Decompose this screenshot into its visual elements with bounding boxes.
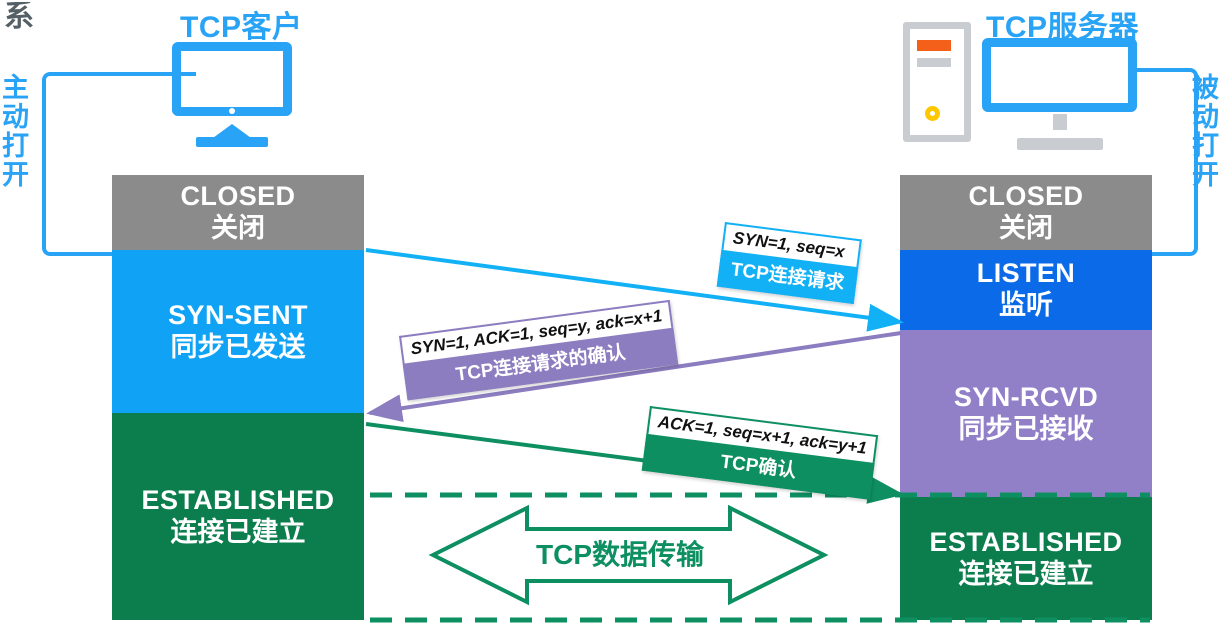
tcp-handshake-diagram: 系 主 动 打 开 被 动 打 开 TCP客户 TCP服务器 C	[0, 0, 1222, 640]
left-side-label-char-2: 打	[2, 132, 29, 161]
monitor-neck	[1053, 114, 1067, 130]
server-state-syn-rcvd: SYN-RCVD 同步已接收	[900, 330, 1152, 497]
state-cn: 连接已建立	[959, 558, 1094, 590]
left-side-label: 主 动 打 开	[2, 74, 29, 191]
left-side-label-char-1: 动	[2, 103, 29, 132]
state-cn: 监听	[999, 289, 1053, 321]
tower-power-led-icon	[925, 106, 940, 121]
tower-gray-bar	[917, 58, 951, 67]
client-title: TCP客户	[180, 2, 303, 46]
message-label-syn: SYN=1, seq=x TCP连接请求	[717, 222, 862, 304]
state-en: CLOSED	[181, 181, 296, 211]
client-state-established: ESTABLISHED 连接已建立	[112, 413, 364, 620]
state-cn: 连接已建立	[171, 516, 306, 548]
state-cn: 同步已发送	[171, 331, 306, 363]
server-tower-icon	[903, 22, 971, 142]
client-state-closed: CLOSED 关闭	[112, 175, 364, 250]
state-en: SYN-SENT	[168, 300, 308, 330]
state-cn: 关闭	[999, 212, 1053, 244]
message-label-syn-ack: SYN=1, ACK=1, seq=y, ack=x+1 TCP连接请求的确认	[399, 300, 679, 401]
monitor-base	[1017, 138, 1103, 150]
state-en: ESTABLISHED	[930, 527, 1123, 557]
monitor-screen	[982, 38, 1137, 112]
data-transfer-label: TCP数据传输	[536, 533, 704, 573]
server-state-closed: CLOSED 关闭	[900, 175, 1152, 250]
state-cn: 关闭	[211, 212, 265, 244]
state-cn: 同步已接收	[959, 413, 1094, 445]
monitor-base	[196, 137, 268, 147]
corner-glyph: 系	[4, 2, 38, 46]
server-state-listen: LISTEN 监听	[900, 250, 1152, 330]
left-side-label-char-3: 开	[2, 161, 29, 190]
left-side-label-char-0: 主	[2, 74, 29, 103]
server-monitor-icon	[982, 38, 1137, 150]
message-label-ack: ACK=1, seq=x+1, ack=y+1 TCP确认	[642, 406, 879, 500]
state-en: ESTABLISHED	[142, 485, 335, 515]
state-en: CLOSED	[969, 181, 1084, 211]
tower-orange-bar	[917, 40, 951, 51]
monitor-indicator-dot	[229, 108, 235, 114]
state-en: LISTEN	[977, 258, 1075, 288]
state-en: SYN-RCVD	[954, 382, 1098, 412]
server-state-established: ESTABLISHED 连接已建立	[900, 497, 1152, 620]
client-state-syn-sent: SYN-SENT 同步已发送	[112, 250, 364, 413]
